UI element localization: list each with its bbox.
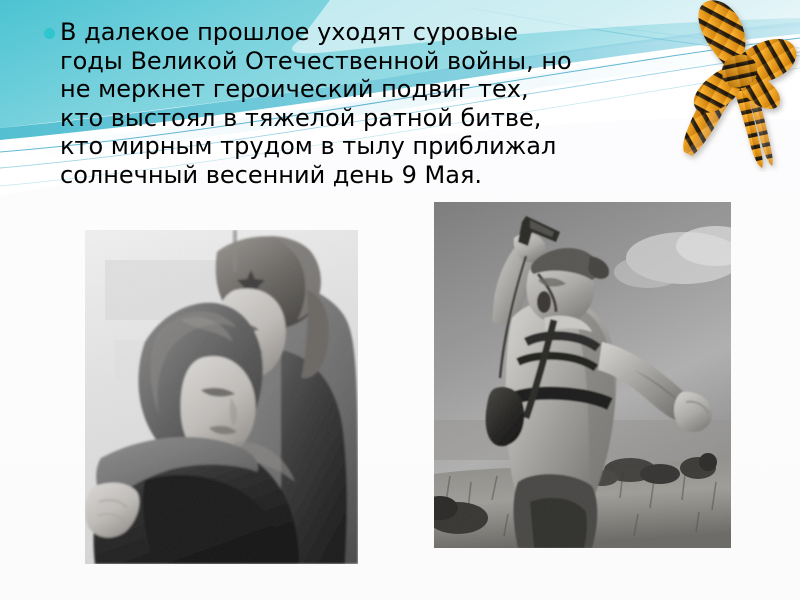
bullet-dot-icon [44, 28, 55, 39]
slide-body-text: В далекое прошлое уходят суровые годы Ве… [44, 18, 604, 189]
st-george-ribbon-icon [648, 0, 800, 172]
bulleted-paragraph: В далекое прошлое уходят суровые годы Ве… [44, 18, 604, 189]
photo-soldier-embracing-woman [85, 230, 358, 564]
photo-kombat-battalion-commander [434, 202, 731, 548]
paragraph-text: В далекое прошлое уходят суровые годы Ве… [60, 18, 604, 189]
presentation-slide: В далекое прошлое уходят суровые годы Ве… [0, 0, 800, 600]
